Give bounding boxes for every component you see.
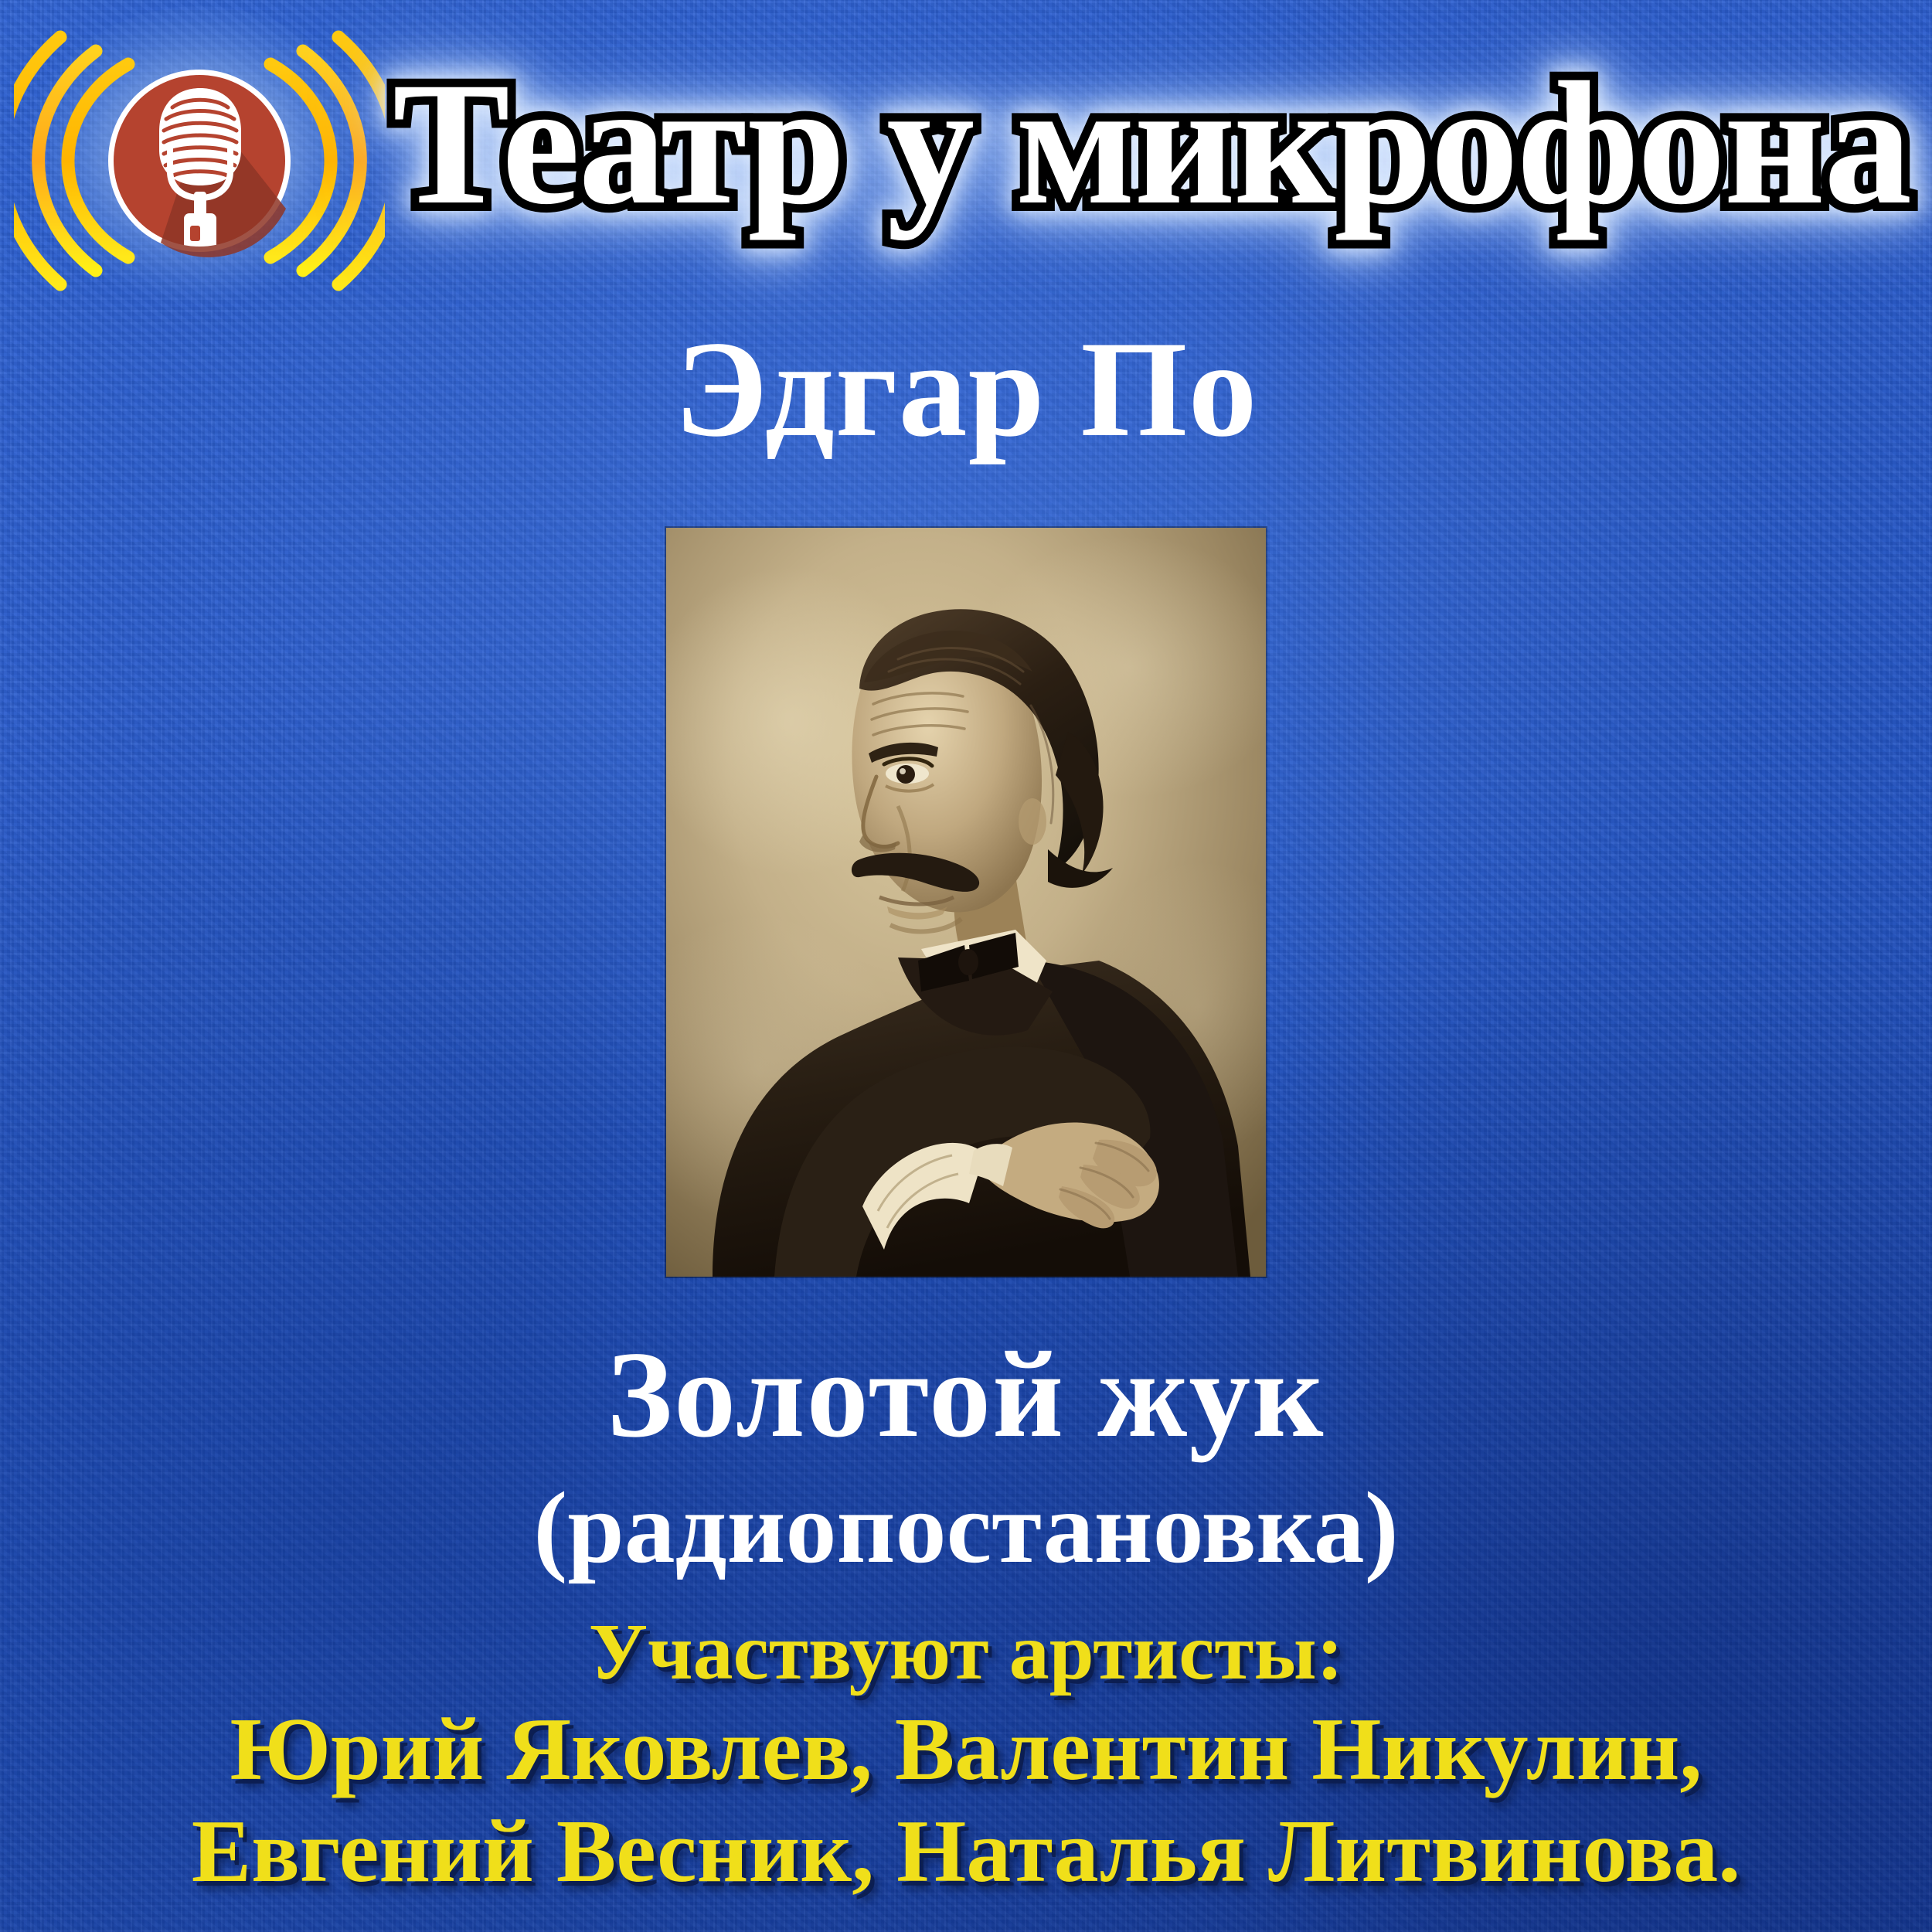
cast-line: Юрий Яковлев, Валентин Никулин,	[0, 1699, 1932, 1801]
work-subtitle: (радиопостановка)	[0, 1468, 1932, 1587]
show-title: Театр у микрофона	[386, 56, 1917, 232]
work-title: Золотой жук	[0, 1323, 1932, 1466]
radio-microphone-logo	[14, 6, 385, 338]
audiobook-cover: Театр у микрофона Эдгар По	[0, 0, 1932, 1932]
cast-line: Евгений Весник, Наталья Литвинова.	[0, 1801, 1932, 1903]
cast-heading: Участвуют артисты:	[0, 1606, 1932, 1698]
author-portrait-photo	[666, 528, 1266, 1277]
author-name: Эдгар По	[0, 309, 1932, 468]
